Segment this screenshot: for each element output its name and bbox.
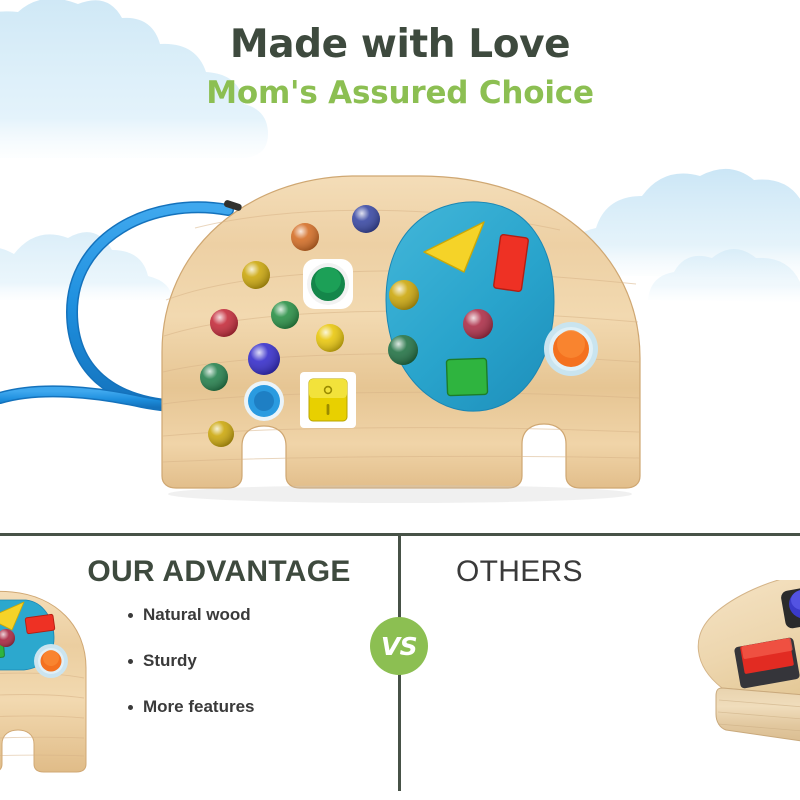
led-green-body-2 [200,363,228,391]
advantage-heading: OUR ADVANTAGE [0,555,398,589]
list-item: Sturdy [128,651,254,671]
vs-badge: VS [370,617,428,675]
led-red-body [210,309,238,337]
promo-infographic: Made with Love Mom's Assured Choice OUR … [0,0,800,800]
title-main: Made with Love [0,22,800,68]
led-yellow-body-3 [208,421,234,447]
other-product-thumbnail [664,580,800,755]
led-yellow-body-1 [242,261,270,289]
led-green-ear [388,335,418,365]
yellow-rocker-switch [300,372,356,428]
led-yellow-body-2 [316,324,344,352]
title-sub: Mom's Assured Choice [0,74,800,113]
advantage-bullet-list: Natural wood Sturdy More features [128,605,254,743]
list-item: More features [128,697,254,717]
blue-cord-knob [244,381,284,421]
led-green-body-1 [271,301,299,329]
hero-titles: Made with Love Mom's Assured Choice [0,22,800,113]
shape-green-square [446,358,487,395]
green-button [303,259,353,309]
vs-badge-label: VS [381,634,417,659]
our-product-thumbnail [0,586,122,776]
led-yellow-ear [389,280,419,310]
led-blue-body [248,343,280,375]
hero-section: Made with Love Mom's Assured Choice [0,0,800,533]
orange-button [544,322,598,376]
list-item: Natural wood [128,605,254,625]
led-red-ear [463,309,493,339]
led-orange-body [291,223,319,251]
led-navy-body [352,205,380,233]
